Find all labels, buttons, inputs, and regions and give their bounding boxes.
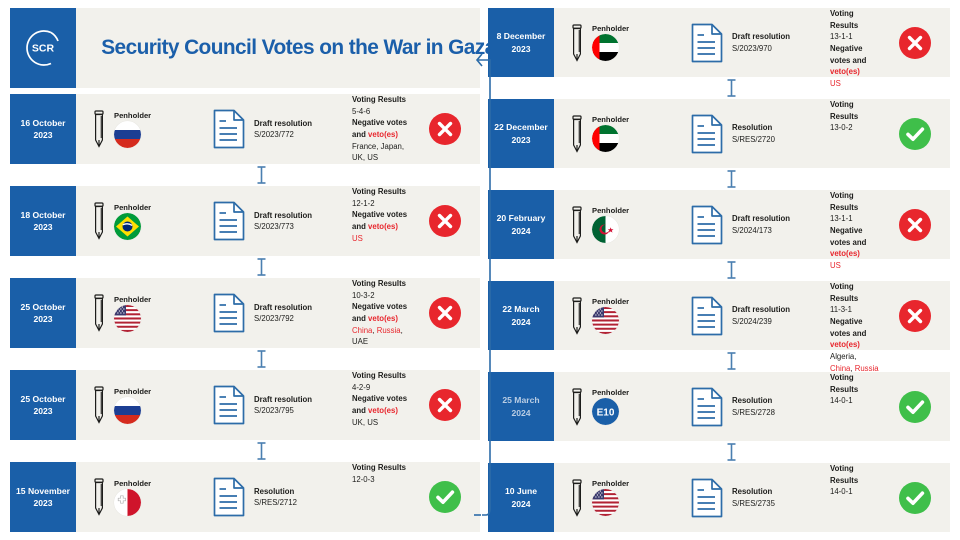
row-date-day: 16 October — [21, 117, 66, 129]
negative-vote-country: UK — [352, 418, 363, 427]
negative-vote-country: US — [367, 418, 378, 427]
pen-icon — [92, 291, 108, 335]
document-number: S/2023/795 — [254, 405, 312, 416]
document-icon — [212, 477, 246, 517]
penholder-block: Penholder — [554, 99, 690, 168]
row-date-year: 2023 — [33, 497, 52, 509]
penholder-info: Penholder — [110, 387, 151, 424]
timeline-row-wrap: 22 March 2024 Penholder — [488, 281, 950, 372]
outcome-vetoed-badge — [899, 300, 931, 332]
uae-flag-icon — [592, 125, 619, 152]
check-icon — [899, 118, 931, 150]
penholder-block: Penholder — [554, 8, 690, 77]
timeline-row[interactable]: 22 December 2023 Penholder — [488, 99, 950, 168]
outcome-block — [410, 462, 480, 532]
svg-text:E10: E10 — [597, 407, 615, 418]
scr-logo-mark: SCR — [21, 26, 65, 70]
voting-tally: 13-1-1 — [830, 31, 880, 43]
row-connector-icon — [726, 170, 737, 188]
pen-icon — [570, 294, 586, 338]
check-icon — [899, 391, 931, 423]
row-connector-icon — [256, 258, 267, 276]
document-type: Resolution — [732, 486, 775, 497]
timeline-row-wrap: 16 October 2023 Penholder — [10, 94, 480, 186]
penholder-info: Penholder — [588, 297, 629, 334]
voting-results-label: Voting Results — [352, 186, 410, 198]
penholder-block: Penholder — [76, 462, 212, 532]
outcome-vetoed-badge — [429, 113, 461, 145]
row-date-day: 8 December — [497, 30, 546, 42]
row-date-year: 2023 — [33, 129, 52, 141]
document-block: Draft resolution S/2023/795 — [212, 370, 350, 440]
voting-results-label: Voting Results — [830, 372, 880, 395]
veto-word: veto(es) — [368, 314, 398, 323]
voting-tally: 12-1-2 — [352, 198, 410, 210]
penholder-info: Penholder — [110, 203, 151, 240]
document-number: S/2023/970 — [732, 43, 790, 54]
document-number: S/2024/239 — [732, 316, 790, 327]
timeline-row[interactable]: 25 October 2023 Penholder — [10, 370, 480, 440]
outcome-vetoed-badge — [899, 27, 931, 59]
penholder-flag — [592, 216, 619, 243]
voting-block: Voting Results 14-0-1 — [828, 463, 880, 532]
row-connector-icon — [726, 261, 737, 279]
check-icon — [899, 482, 931, 514]
penholder-block: Penholder — [76, 370, 212, 440]
timeline-row-wrap: 25 October 2023 Penholder — [10, 370, 480, 462]
timeline-row-wrap: 15 November 2023 Penholder — [10, 462, 480, 532]
penholder-info: Penholder — [588, 206, 629, 243]
document-block: Resolution S/RES/2712 — [212, 462, 350, 532]
voting-results-label: Voting Results — [830, 190, 880, 213]
voting-block: Voting Results 12-1-2 Negative votes and… — [350, 186, 410, 256]
document-block: Draft resolution S/2024/173 — [690, 190, 828, 259]
voting-tally: 13-1-1 — [830, 213, 880, 225]
voting-block: Voting Results 11-3-1 Negative votes and… — [828, 281, 880, 350]
penholder-block: Penholder — [554, 463, 690, 532]
document-info: Draft resolution S/2024/239 — [732, 304, 790, 327]
check-icon — [429, 481, 461, 513]
row-date-day: 22 March — [502, 303, 539, 315]
veto-word: veto(es) — [368, 222, 398, 231]
outcome-block — [880, 99, 950, 168]
page-title: Security Council Votes on the War in Gaz… — [76, 36, 496, 60]
penholder-label: Penholder — [114, 203, 151, 212]
negative-vote-country: France — [352, 142, 376, 151]
document-number: S/RES/2735 — [732, 498, 775, 509]
voting-block: Voting Results 5-4-6 Negative votes and … — [350, 94, 410, 164]
pen-icon — [92, 383, 108, 427]
timeline-row[interactable]: 20 February 2024 Penholder — [488, 190, 950, 259]
header-banner: SCR Security Council Votes on the War in… — [10, 8, 480, 88]
document-info: Resolution S/RES/2712 — [254, 486, 297, 509]
document-info: Draft resolution S/2023/970 — [732, 31, 790, 54]
usa-flag-icon — [592, 489, 619, 516]
penholder-info: Penholder — [588, 24, 629, 61]
uae-flag-icon — [592, 34, 619, 61]
row-date-year: 2023 — [33, 313, 52, 325]
document-number: S/2023/772 — [254, 129, 312, 140]
voting-block: Voting Results 4-2-9 Negative votes and … — [350, 370, 410, 440]
row-date: 8 December 2023 — [488, 8, 554, 77]
penholder-block: Penholder — [76, 278, 212, 348]
penholder-info: Penholder — [588, 479, 629, 516]
row-connector-icon — [256, 350, 267, 368]
document-number: S/2024/173 — [732, 225, 790, 236]
row-date: 25 October 2023 — [10, 278, 76, 348]
document-type: Draft resolution — [254, 118, 312, 129]
row-connector — [488, 168, 950, 190]
penholder-flag — [592, 34, 619, 61]
outcome-vetoed-badge — [429, 297, 461, 329]
voting-tally: 4-2-9 — [352, 382, 410, 394]
penholder-block: Penholder — [554, 190, 690, 259]
penholder-flag — [114, 397, 141, 424]
rows-right: 8 December 2023 Penholder — [488, 8, 950, 532]
voting-block: Voting Results 13-1-1 Negative votes and… — [828, 190, 880, 259]
outcome-vetoed-badge — [429, 389, 461, 421]
document-icon — [212, 109, 246, 149]
penholder-label: Penholder — [592, 24, 629, 33]
algeria-flag-icon — [592, 216, 619, 243]
timeline-row[interactable]: 15 November 2023 Penholder — [10, 462, 480, 532]
document-block: Resolution S/RES/2728 — [690, 372, 828, 441]
document-type: Draft resolution — [254, 210, 312, 221]
row-date: 25 March 2024 — [488, 372, 554, 441]
document-info: Draft resolution S/2023/773 — [254, 210, 312, 233]
usa-flag-icon — [114, 305, 141, 332]
outcome-block — [880, 372, 950, 441]
outcome-block — [880, 281, 950, 350]
document-icon — [690, 23, 724, 63]
negative-vote-country: Japan — [381, 142, 402, 151]
timeline-column-right: 8 December 2023 Penholder — [488, 8, 950, 532]
document-icon — [212, 385, 246, 425]
document-block: Draft resolution S/2023/792 — [212, 278, 350, 348]
outcome-block — [410, 278, 480, 348]
voting-results-label: Voting Results — [830, 99, 880, 122]
pen-icon — [570, 476, 586, 520]
pen-icon — [570, 112, 586, 156]
russia-flag-icon — [114, 121, 141, 148]
row-date-day: 10 June — [505, 485, 537, 497]
penholder-block: Penholder — [554, 281, 690, 350]
document-icon — [690, 114, 724, 154]
document-number: S/RES/2712 — [254, 497, 297, 508]
document-block: Resolution S/RES/2720 — [690, 99, 828, 168]
penholder-label: Penholder — [592, 115, 629, 124]
row-date: 22 December 2023 — [488, 99, 554, 168]
negative-vote-country: US — [352, 234, 363, 243]
row-connector-icon — [726, 443, 737, 461]
circle-arc-icon: SCR — [21, 26, 65, 70]
outcome-vetoed-badge — [899, 209, 931, 241]
voting-tally: 14-0-1 — [830, 486, 880, 498]
negative-votes-label: Negative votes and veto(es) — [352, 209, 410, 232]
document-type: Draft resolution — [732, 31, 790, 42]
row-connector — [10, 164, 480, 186]
voting-tally: 13-0-2 — [830, 122, 880, 134]
document-block: Draft resolution S/2023/970 — [690, 8, 828, 77]
row-date-year: 2023 — [33, 221, 52, 233]
document-icon — [212, 201, 246, 241]
e10-badge-icon: E10 — [592, 398, 619, 425]
row-date: 20 February 2024 — [488, 190, 554, 259]
voting-tally: 12-0-3 — [352, 474, 410, 486]
document-number: S/RES/2720 — [732, 134, 775, 145]
row-date: 16 October 2023 — [10, 94, 76, 164]
document-type: Resolution — [254, 486, 297, 497]
outcome-block — [880, 8, 950, 77]
close-icon — [899, 209, 931, 241]
row-date-day: 20 February — [497, 212, 546, 224]
pen-icon — [570, 203, 586, 247]
document-icon — [690, 387, 724, 427]
negative-votes-label: Negative votes and veto(es) — [830, 225, 880, 260]
negative-votes-label: Negative votes and veto(es) — [352, 393, 410, 416]
document-block: Draft resolution S/2023/772 — [212, 94, 350, 164]
close-icon — [429, 205, 461, 237]
negative-votes-label: Negative votes and veto(es) — [352, 117, 410, 140]
row-connector — [488, 350, 950, 372]
voting-block: Voting Results 12-0-3 — [350, 462, 410, 532]
malta-flag-icon — [114, 489, 141, 516]
negative-vote-country: UK — [352, 153, 363, 162]
rows-left: 16 October 2023 Penholder — [10, 94, 480, 532]
row-date-day: 25 October — [21, 301, 66, 313]
pen-icon — [570, 385, 586, 429]
russia-flag-icon — [114, 397, 141, 424]
row-date-year: 2023 — [511, 134, 530, 146]
close-icon — [429, 389, 461, 421]
document-icon — [690, 478, 724, 518]
voting-block: Voting Results 10-3-2 Negative votes and… — [350, 278, 410, 348]
document-info: Draft resolution S/2023/795 — [254, 394, 312, 417]
infographic-board: SCR Security Council Votes on the War in… — [0, 0, 960, 540]
pen-icon — [92, 107, 108, 151]
row-connector — [10, 440, 480, 462]
penholder-flag — [592, 125, 619, 152]
document-number: S/2023/792 — [254, 313, 312, 324]
negative-votes-list: China, Russia, UAE — [352, 325, 410, 348]
row-date-day: 25 March — [502, 394, 539, 406]
penholder-info: Penholder — [588, 115, 629, 152]
document-type: Draft resolution — [732, 213, 790, 224]
penholder-label: Penholder — [114, 295, 151, 304]
timeline-row-wrap: 25 October 2023 Penholder — [10, 278, 480, 370]
veto-word: veto(es) — [830, 340, 860, 349]
row-date-year: 2023 — [511, 43, 530, 55]
document-info: Draft resolution S/2023/792 — [254, 302, 312, 325]
penholder-info: Penholder E10 — [588, 388, 629, 425]
voting-block: Voting Results 14-0-1 — [828, 372, 880, 441]
close-icon — [899, 27, 931, 59]
usa-flag-icon — [592, 307, 619, 334]
row-date-day: 15 November — [16, 485, 70, 497]
row-date: 15 November 2023 — [10, 462, 76, 532]
row-connector — [488, 259, 950, 281]
penholder-flag — [114, 489, 141, 516]
row-date-year: 2024 — [511, 498, 530, 510]
timeline-row[interactable]: 8 December 2023 Penholder — [488, 8, 950, 77]
penholder-block: Penholder — [76, 94, 212, 164]
veto-word: veto(es) — [830, 249, 860, 258]
row-date-day: 22 December — [494, 121, 548, 133]
row-connector — [488, 441, 950, 463]
close-icon — [899, 300, 931, 332]
voting-results-label: Voting Results — [352, 278, 410, 290]
negative-vote-country: UAE — [352, 337, 368, 346]
brazil-flag-icon — [114, 213, 141, 240]
document-type: Resolution — [732, 395, 775, 406]
timeline-row-wrap: 8 December 2023 Penholder — [488, 8, 950, 99]
document-type: Draft resolution — [732, 304, 790, 315]
penholder-label: Penholder — [592, 297, 629, 306]
penholder-label: Penholder — [592, 206, 629, 215]
voting-results-label: Voting Results — [352, 94, 410, 106]
row-date-year: 2024 — [511, 407, 530, 419]
document-icon — [690, 296, 724, 336]
document-info: Resolution S/RES/2735 — [732, 486, 775, 509]
row-date-year: 2024 — [511, 316, 530, 328]
document-info: Resolution S/RES/2728 — [732, 395, 775, 418]
negative-vote-country: China — [352, 326, 372, 335]
penholder-flag: E10 — [592, 398, 619, 425]
document-block: Draft resolution S/2023/773 — [212, 186, 350, 256]
row-date-year: 2023 — [33, 405, 52, 417]
row-connector-icon — [256, 166, 267, 184]
outcome-block — [410, 94, 480, 164]
pen-icon — [570, 21, 586, 65]
document-block: Resolution S/RES/2735 — [690, 463, 828, 532]
penholder-label: Penholder — [592, 388, 629, 397]
timeline-row[interactable]: 22 March 2024 Penholder — [488, 281, 950, 350]
row-connector-icon — [726, 352, 737, 370]
timeline-row-wrap: 25 March 2024 Penholder E10 — [488, 372, 950, 463]
row-connector-icon — [256, 442, 267, 460]
timeline-columns: SCR Security Council Votes on the War in… — [10, 8, 950, 532]
voting-tally: 14-0-1 — [830, 395, 880, 407]
penholder-label: Penholder — [114, 479, 151, 488]
voting-results-label: Voting Results — [352, 370, 410, 382]
outcome-block — [410, 370, 480, 440]
negative-votes-label: Negative votes and veto(es) — [830, 43, 880, 78]
voting-block: Voting Results 13-1-1 Negative votes and… — [828, 8, 880, 77]
voting-tally: 5-4-6 — [352, 106, 410, 118]
voting-tally: 10-3-2 — [352, 290, 410, 302]
row-connector — [10, 256, 480, 278]
document-type: Draft resolution — [254, 302, 312, 313]
row-date-day: 18 October — [21, 209, 66, 221]
penholder-flag — [592, 489, 619, 516]
document-icon — [690, 205, 724, 245]
timeline-row-wrap: 22 December 2023 Penholder — [488, 99, 950, 190]
outcome-block — [880, 463, 950, 532]
timeline-row[interactable]: 18 October 2023 Penholder — [10, 186, 480, 256]
negative-votes-list: US — [352, 233, 410, 245]
timeline-row[interactable]: 25 March 2024 Penholder E10 — [488, 372, 950, 441]
penholder-block: Penholder — [76, 186, 212, 256]
negative-votes-label: Negative votes and veto(es) — [830, 316, 880, 351]
row-connector — [10, 348, 480, 370]
timeline-row[interactable]: 25 October 2023 Penholder — [10, 278, 480, 348]
pen-icon — [92, 199, 108, 243]
penholder-block: Penholder E10 — [554, 372, 690, 441]
veto-word: veto(es) — [368, 130, 398, 139]
penholder-flag — [114, 121, 141, 148]
document-type: Resolution — [732, 122, 775, 133]
outcome-vetoed-badge — [429, 205, 461, 237]
document-number: S/2023/773 — [254, 221, 312, 232]
voting-results-label: Voting Results — [352, 462, 410, 474]
voting-results-label: Voting Results — [830, 8, 880, 31]
document-info: Draft resolution S/2023/772 — [254, 118, 312, 141]
scr-logo-text: SCR — [32, 43, 55, 55]
voting-results-label: Voting Results — [830, 281, 880, 304]
penholder-info: Penholder — [110, 295, 151, 332]
timeline-row[interactable]: 16 October 2023 Penholder — [10, 94, 480, 164]
voting-tally: 11-3-1 — [830, 304, 880, 316]
row-connector-icon — [726, 79, 737, 97]
timeline-column-left: SCR Security Council Votes on the War in… — [10, 8, 480, 532]
outcome-block — [880, 190, 950, 259]
veto-word: veto(es) — [368, 406, 398, 415]
penholder-label: Penholder — [592, 479, 629, 488]
outcome-adopted-badge — [899, 482, 931, 514]
document-icon — [212, 293, 246, 333]
document-number: S/RES/2728 — [732, 407, 775, 418]
row-date: 22 March 2024 — [488, 281, 554, 350]
scr-logo: SCR — [10, 8, 76, 88]
penholder-flag — [592, 307, 619, 334]
penholder-label: Penholder — [114, 387, 151, 396]
row-date: 18 October 2023 — [10, 186, 76, 256]
row-date-day: 25 October — [21, 393, 66, 405]
document-info: Draft resolution S/2024/173 — [732, 213, 790, 236]
document-type: Draft resolution — [254, 394, 312, 405]
close-icon — [429, 113, 461, 145]
negative-vote-country: US — [367, 153, 378, 162]
row-date-year: 2024 — [511, 225, 530, 237]
penholder-flag — [114, 213, 141, 240]
row-date: 25 October 2023 — [10, 370, 76, 440]
voting-block: Voting Results 13-0-2 — [828, 99, 880, 168]
row-connector — [488, 77, 950, 99]
negative-vote-country: Russia — [377, 326, 401, 335]
outcome-adopted-badge — [429, 481, 461, 513]
timeline-row[interactable]: 10 June 2024 Penholder — [488, 463, 950, 532]
negative-votes-label: Negative votes and veto(es) — [352, 301, 410, 324]
voting-results-label: Voting Results — [830, 463, 880, 486]
negative-votes-list: France, Japan, UK, US — [352, 141, 410, 164]
row-date: 10 June 2024 — [488, 463, 554, 532]
outcome-block — [410, 186, 480, 256]
penholder-flag — [114, 305, 141, 332]
outcome-adopted-badge — [899, 118, 931, 150]
veto-word: veto(es) — [830, 67, 860, 76]
timeline-row-wrap: 18 October 2023 Penholder — [10, 186, 480, 278]
document-info: Resolution S/RES/2720 — [732, 122, 775, 145]
document-block: Draft resolution S/2024/239 — [690, 281, 828, 350]
close-icon — [429, 297, 461, 329]
penholder-info: Penholder — [110, 111, 151, 148]
timeline-row-wrap: 10 June 2024 Penholder — [488, 463, 950, 532]
penholder-label: Penholder — [114, 111, 151, 120]
timeline-row-wrap: 20 February 2024 Penholder — [488, 190, 950, 281]
penholder-info: Penholder — [110, 479, 151, 516]
outcome-adopted-badge — [899, 391, 931, 423]
negative-votes-list: UK, US — [352, 417, 410, 429]
